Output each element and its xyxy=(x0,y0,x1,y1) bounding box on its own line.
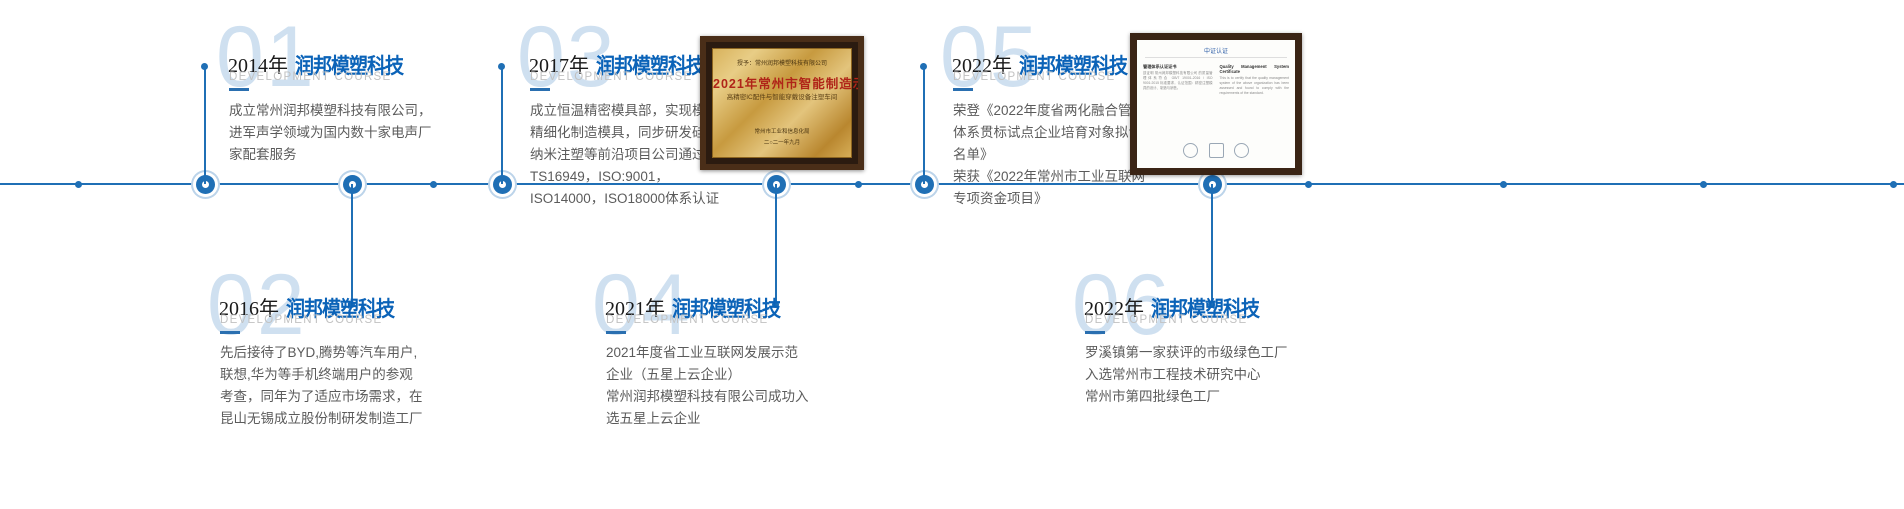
plaque-line-3: 高精密IC配件与智能穿戴设备注塑车间 xyxy=(713,91,851,101)
certificate-rule xyxy=(1145,57,1287,58)
plaque-date: 二○二一年九月 xyxy=(713,138,851,146)
axis-marker-dot xyxy=(430,181,437,188)
certificate-right-body: This is to certify that the quality mana… xyxy=(1219,76,1289,95)
timeline-axis xyxy=(0,183,1904,185)
entry-divider-dash xyxy=(530,88,550,91)
entry-divider-dash xyxy=(606,331,626,334)
certificate-paper: 中证认证 管理体系认证证书 兹证明 常州润邦模塑科技有限公司 的质量管理体系符合… xyxy=(1137,40,1295,168)
certificate-right-column: Quality Management System Certificate Th… xyxy=(1219,64,1289,96)
entry-subtitle: DEVELOPMENT COURSE xyxy=(606,314,769,326)
entry-body-text: 2021年度省工业互联网发展示范 企业（五星上云企业） 常州润邦模塑科技有限公司… xyxy=(606,342,926,430)
certification-frame-image: 中证认证 管理体系认证证书 兹证明 常州润邦模塑科技有限公司 的质量管理体系符合… xyxy=(1130,33,1302,175)
connector-stem-01 xyxy=(204,66,206,184)
entry-subtitle: DEVELOPMENT COURSE xyxy=(1085,314,1248,326)
connector-cap-03 xyxy=(498,63,505,70)
plaque-gold-plate: 授予：常州润邦模塑科技有限公司 2021年常州市智能制造示范车间 高精密IC配件… xyxy=(712,48,852,158)
axis-marker-dot xyxy=(855,181,862,188)
connector-stem-02 xyxy=(351,184,353,304)
entry-subtitle: DEVELOPMENT COURSE xyxy=(229,71,392,83)
axis-marker-dot xyxy=(1305,181,1312,188)
certificate-left-body: 兹证明 常州润邦模塑科技有限公司 的质量管理体系符合 GB/T 19001-20… xyxy=(1143,71,1213,90)
timeline-infographic: 01 2014年润邦模塑科技 DEVELOPMENT COURSE 成立常州润邦… xyxy=(0,0,1904,509)
plaque-line-1: 授予：常州润邦模塑科技有限公司 xyxy=(713,58,851,67)
connector-stem-05 xyxy=(923,66,925,184)
entry-subtitle: DEVELOPMENT COURSE xyxy=(530,71,693,83)
award-plaque-image: 授予：常州润邦模塑科技有限公司 2021年常州市智能制造示范车间 高精密IC配件… xyxy=(700,36,864,170)
certificate-seal-icon xyxy=(1234,143,1249,158)
connector-cap-01 xyxy=(201,63,208,70)
entry-divider-dash xyxy=(229,88,249,91)
axis-marker-dot xyxy=(1500,181,1507,188)
connector-cap-05 xyxy=(920,63,927,70)
axis-marker-dot xyxy=(75,181,82,188)
entry-divider-dash xyxy=(220,331,240,334)
certificate-seal-icon xyxy=(1209,143,1224,158)
entry-body-text: 先后接待了BYD,腾势等汽车用户, 联想,华为等手机终端用户的参观 考查，同年为… xyxy=(220,342,530,430)
certificate-left-title: 管理体系认证证书 xyxy=(1143,64,1213,69)
certificate-seal-icon xyxy=(1183,143,1198,158)
axis-marker-dot xyxy=(1890,181,1897,188)
certificate-right-title: Quality Management System Certificate xyxy=(1219,64,1289,74)
certificate-left-column: 管理体系认证证书 兹证明 常州润邦模塑科技有限公司 的质量管理体系符合 GB/T… xyxy=(1143,64,1213,91)
plaque-line-2: 2021年常州市智能制造示范车间 xyxy=(713,73,851,92)
entry-subtitle: DEVELOPMENT COURSE xyxy=(220,314,383,326)
entry-divider-dash xyxy=(953,88,973,91)
plaque-issuer: 常州市工业和信息化局 xyxy=(713,127,851,135)
entry-divider-dash xyxy=(1085,331,1105,334)
certificate-seal-row xyxy=(1137,143,1295,163)
entry-subtitle: DEVELOPMENT COURSE xyxy=(953,71,1116,83)
axis-marker-dot xyxy=(1700,181,1707,188)
certificate-header: 中证认证 xyxy=(1137,46,1295,55)
entry-body-text: 成立常州润邦模塑科技有限公司， 进军声学领域为国内数十家电声厂 家配套服务 xyxy=(229,100,529,166)
entry-body-text: 罗溪镇第一家获评的市级绿色工厂 入选常州市工程技术研究中心 常州市第四批绿色工厂 xyxy=(1085,342,1405,408)
